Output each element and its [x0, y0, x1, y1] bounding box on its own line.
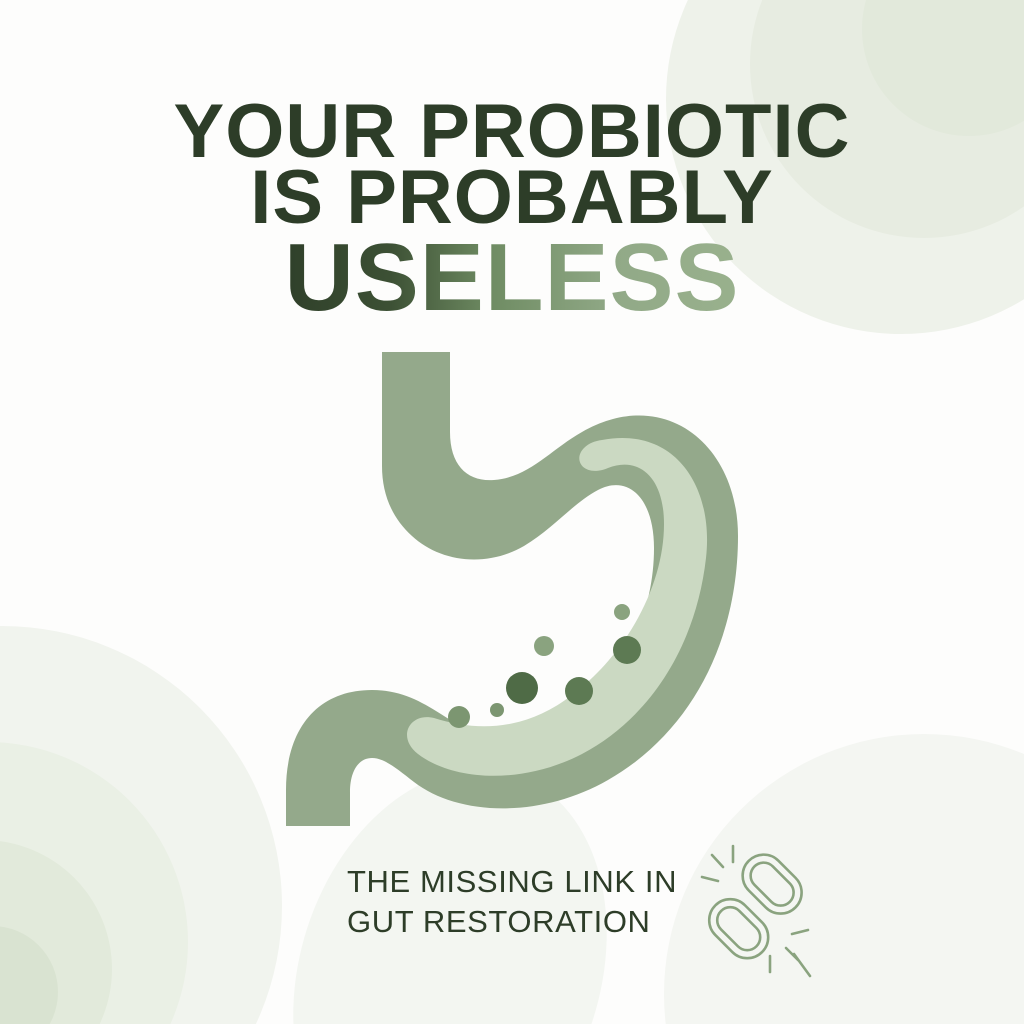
tagline-line-1: THE MISSING LINK IN: [347, 862, 677, 902]
chain-link-lower-outer: [701, 891, 777, 967]
bacteria-dot: [613, 636, 641, 664]
tagline-line-2: GUT RESTORATION: [347, 902, 677, 942]
bacteria-dot: [534, 636, 554, 656]
sparkle-ray: [792, 930, 808, 934]
background-circle-bottom-left-outer: [0, 626, 282, 1024]
sparkle-ray: [712, 855, 723, 867]
chain-link-upper-outer: [734, 846, 810, 922]
sparkle-ray: [702, 877, 718, 881]
bacteria-dot: [614, 604, 630, 620]
background-circle-bottom-left-inner: [0, 926, 58, 1024]
bacteria-dot: [448, 706, 470, 728]
tagline-block: THE MISSING LINK IN GUT RESTORATION: [347, 862, 677, 943]
bacteria-dot: [506, 672, 538, 704]
probiotic-poster: YOUR PROBIOTIC IS PROBABLY USELESS THE M…: [0, 0, 1024, 1024]
chain-link-upper-inner: [745, 857, 799, 911]
bacteria-dot: [490, 703, 504, 717]
chain-link-lower-inner: [712, 902, 766, 956]
stomach-illustration: [272, 340, 752, 840]
headline-line-3-useless: USELESS: [0, 232, 1024, 323]
headline-block: YOUR PROBIOTIC IS PROBABLY USELESS: [0, 96, 1024, 324]
sparkle-ray: [794, 954, 810, 976]
chain-link-icon: [694, 836, 816, 982]
background-circle-bottom-left-mid2: [0, 840, 112, 1024]
bacteria-dot: [565, 677, 593, 705]
background-circle-bottom-left-mid1: [0, 742, 188, 1024]
